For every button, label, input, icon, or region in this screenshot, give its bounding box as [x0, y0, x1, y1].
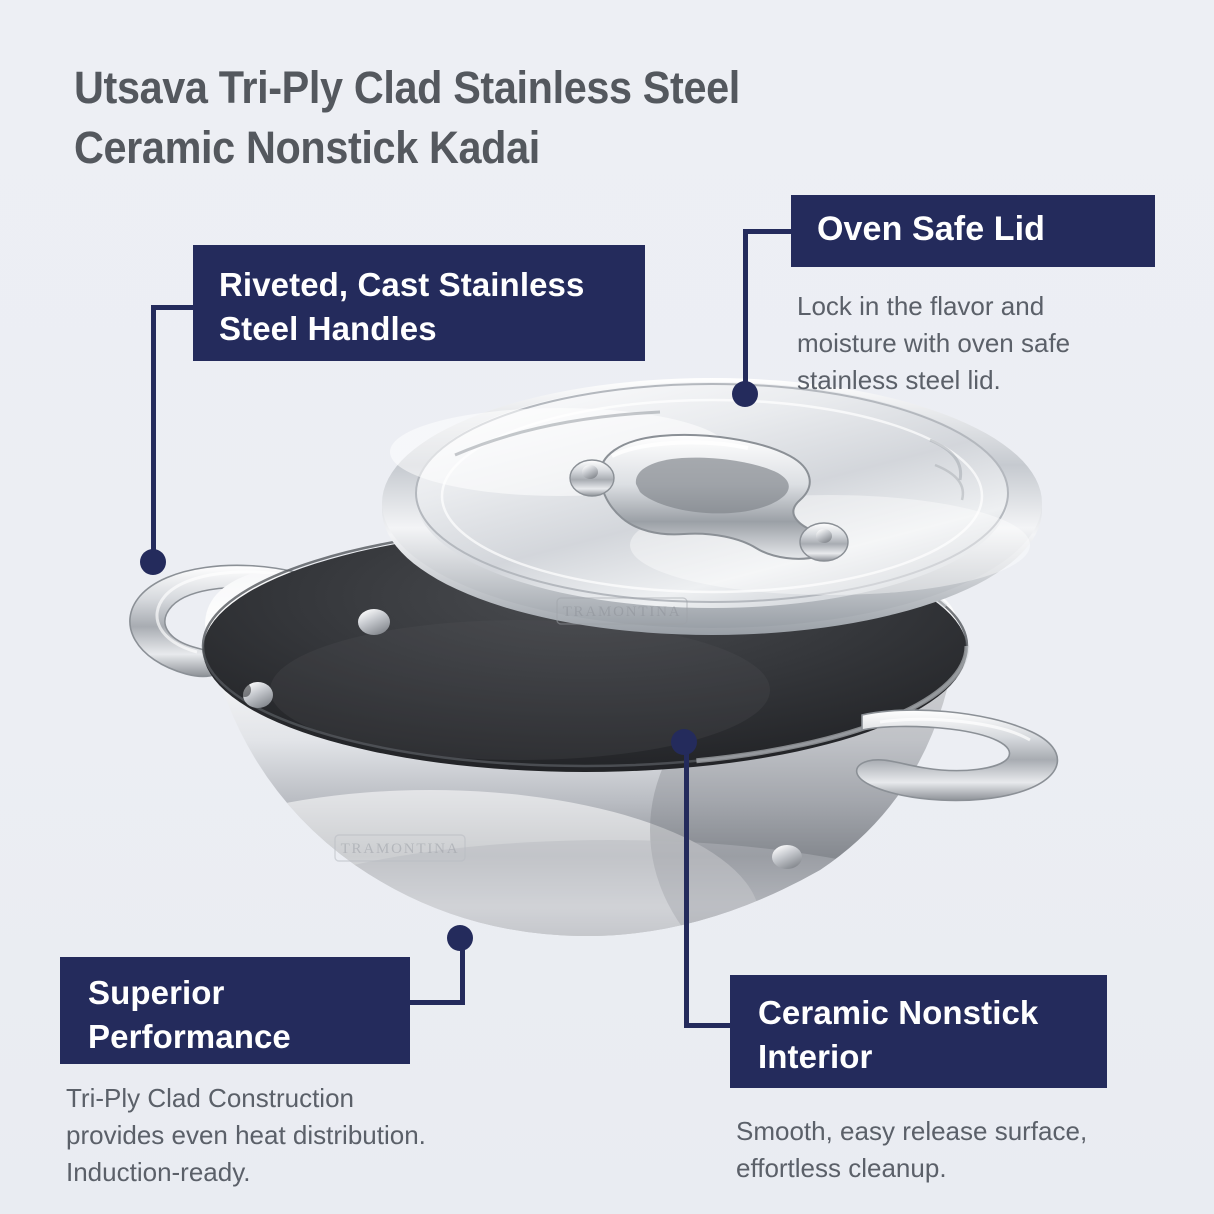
connector-dot-ceramic — [671, 729, 697, 755]
connector-dot-lid — [732, 381, 758, 407]
connector-line-superior-horizontal — [405, 1000, 465, 1005]
callout-body-oven-safe-lid: Lock in the flavor and moisture with ove… — [797, 288, 1137, 399]
callout-badge-handles: Riveted, Cast Stainless Steel Handles — [193, 245, 645, 361]
page-title: Utsava Tri-Ply Clad Stainless Steel Cera… — [74, 58, 902, 178]
connector-line-lid-vertical — [743, 229, 748, 394]
connector-dot-superior — [447, 925, 473, 951]
connector-line-ceramic-vertical — [684, 745, 689, 1026]
connector-line-handles-vertical — [151, 305, 156, 563]
pot-lid: TRAMONTINA — [382, 378, 1042, 635]
connector-dot-handles — [140, 549, 166, 575]
callout-body-superior-performance: Tri-Ply Clad Construction provides even … — [66, 1080, 506, 1191]
svg-text:TRAMONTINA: TRAMONTINA — [341, 841, 460, 857]
infographic-canvas: TRAMONTINA — [0, 0, 1214, 1214]
callout-body-ceramic-nonstick-interior: Smooth, easy release surface, effortless… — [736, 1113, 1156, 1187]
connector-line-lid-horizontal — [745, 229, 795, 234]
callout-badge-oven-safe-lid: Oven Safe Lid — [791, 195, 1155, 267]
rivet — [772, 845, 802, 869]
svg-text:TRAMONTINA: TRAMONTINA — [563, 604, 682, 620]
connector-line-ceramic-horizontal — [684, 1023, 736, 1028]
connector-line-handles-horizontal — [153, 305, 198, 310]
callout-badge-superior-performance: Superior Performance — [60, 957, 410, 1064]
rivet — [358, 609, 390, 635]
product-photo: TRAMONTINA — [0, 360, 1214, 960]
callout-badge-ceramic-nonstick-interior: Ceramic Nonstick Interior — [730, 975, 1107, 1088]
